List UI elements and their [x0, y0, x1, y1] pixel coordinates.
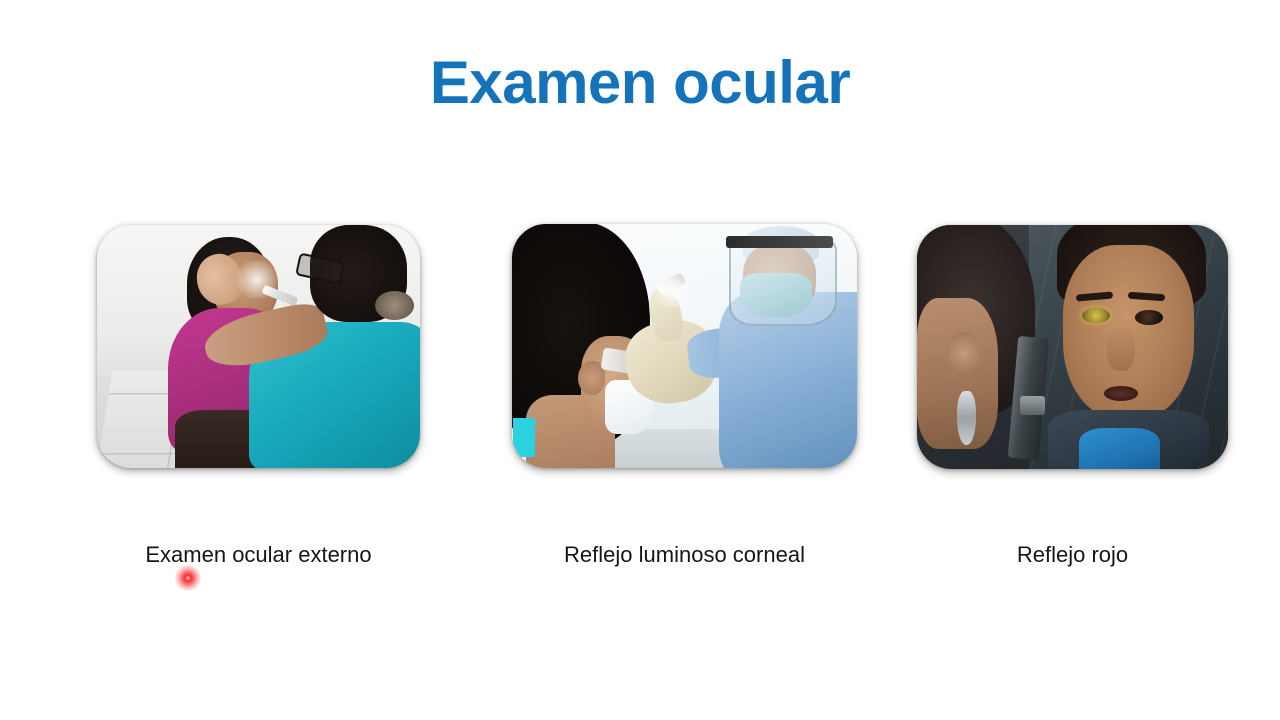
child-eye-abnormal-reflex [1082, 308, 1110, 323]
penlight-glow [650, 275, 695, 307]
photo-corneal-light-reflex[interactable] [512, 224, 857, 468]
child-mouth [1104, 386, 1138, 401]
child-blue-collar [1079, 428, 1160, 469]
ophthalmoscope-dial [1020, 396, 1045, 416]
photo-red-reflex[interactable] [917, 225, 1228, 469]
figure-caption-red-reflex: Reflejo rojo [917, 542, 1228, 568]
figure-caption-external-eye-exam: Examen ocular externo [97, 542, 420, 568]
examiner-ear [948, 332, 979, 373]
figure-corneal-light-reflex[interactable]: Reflejo luminoso corneal [512, 224, 857, 468]
earring-icon [957, 391, 976, 445]
child-eye-normal [1135, 310, 1163, 325]
cyan-corner-artifact [513, 418, 535, 457]
figure-row: Examen ocular externo [0, 0, 1280, 720]
presentation-slide: Examen ocular [0, 0, 1280, 720]
photo-external-eye-exam[interactable] [97, 225, 420, 468]
examiner-hair-clip [375, 291, 414, 320]
figure-red-reflex[interactable]: Reflejo rojo [917, 225, 1228, 469]
figure-external-eye-exam[interactable]: Examen ocular externo [97, 225, 420, 468]
examiner-face-shield [729, 236, 837, 325]
figure-caption-corneal-light-reflex: Reflejo luminoso corneal [512, 542, 857, 568]
face-shield-headband [726, 236, 833, 248]
penlight-glow [233, 261, 281, 297]
child-nose [1107, 327, 1135, 371]
